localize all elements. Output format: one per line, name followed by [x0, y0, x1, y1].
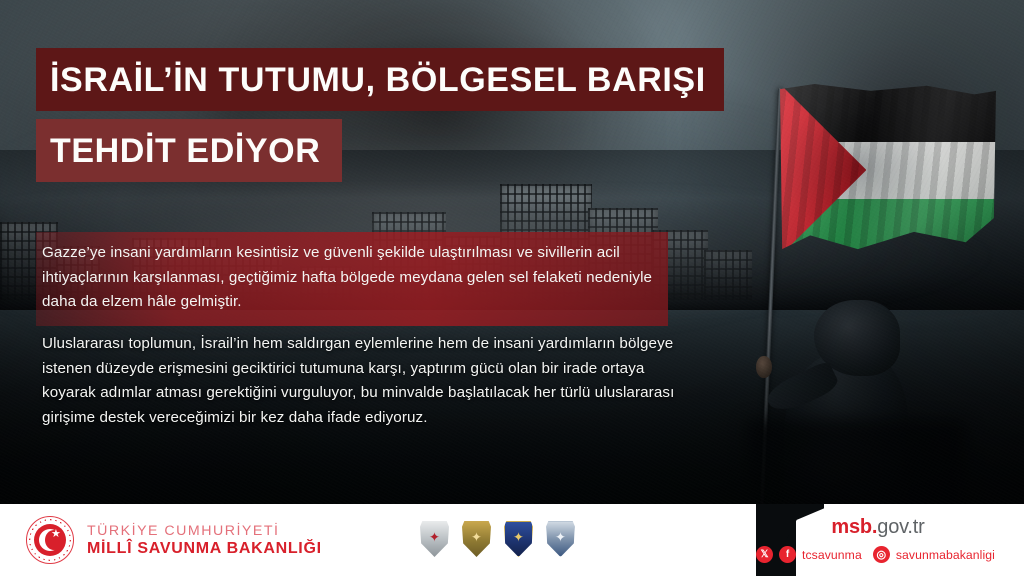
headline-line-1: İSRAİL’İN TUTUMU, BÖLGESEL BARIŞI	[36, 48, 724, 111]
crest-glyph: ✦	[471, 530, 482, 543]
website-url-bold: msb.	[831, 516, 877, 538]
social-links: 𝕏 f tcsavunma ◎ savunmabakanligi	[756, 546, 1000, 563]
headline-line-2: TEHDİT EDİYOR	[36, 119, 342, 182]
headline-row-2: TEHDİT EDİYOR	[0, 111, 1024, 182]
x-icon[interactable]: 𝕏	[756, 546, 773, 563]
paragraph-plain-text: Uluslararası toplumun, İsrail’in hem sal…	[42, 335, 674, 426]
headline-block: İSRAİL’İN TUTUMU, BÖLGESEL BARIŞI TEHDİT…	[0, 48, 1024, 182]
footer-bar: ★ TÜRKİYE CUMHURİYETİ MİLLÎ SAVUNMA BAKA…	[0, 504, 1024, 576]
paragraph-highlighted: Gazze’ye insani yardımların kesintisiz v…	[36, 232, 668, 326]
crest-glyph: ✦	[429, 530, 440, 543]
paragraph-plain: Uluslararası toplumun, İsrail’in hem sal…	[42, 332, 682, 431]
web-contact: msb.gov.tr 𝕏 f tcsavunma ◎ savunmabakanl…	[756, 516, 1000, 563]
crest-glyph: ✦	[513, 530, 524, 543]
facebook-handle[interactable]: tcsavunma	[802, 548, 862, 562]
land-forces-crest: ✦	[462, 521, 491, 557]
facebook-icon[interactable]: f	[779, 546, 796, 563]
air-forces-crest: ✦	[546, 521, 575, 557]
website-url-rest: gov.tr	[877, 516, 924, 538]
general-staff-crest: ✦	[420, 521, 449, 557]
ministry-brand: ★ TÜRKİYE CUMHURİYETİ MİLLÎ SAVUNMA BAKA…	[26, 516, 322, 564]
instagram-handle[interactable]: savunmabakanligi	[896, 548, 995, 562]
turkey-emblem-icon: ★	[26, 516, 74, 564]
paragraph-highlighted-text: Gazze’ye insani yardımların kesintisiz v…	[42, 244, 652, 310]
star-icon: ★	[51, 529, 61, 540]
crest-glyph: ✦	[555, 530, 566, 543]
brand-line-2: MİLLÎ SAVUNMA BAKANLIĞI	[87, 540, 322, 558]
naval-forces-crest: ✦	[504, 521, 533, 557]
military-crests: ✦ ✦ ✦ ✦	[420, 521, 575, 557]
poster-canvas: İSRAİL’İN TUTUMU, BÖLGESEL BARIŞI TEHDİT…	[0, 0, 1024, 576]
instagram-icon[interactable]: ◎	[873, 546, 890, 563]
website-url[interactable]: msb.gov.tr	[756, 516, 1000, 539]
brand-line-1: TÜRKİYE CUMHURİYETİ	[87, 523, 322, 539]
headline-row-1: İSRAİL’İN TUTUMU, BÖLGESEL BARIŞI	[0, 48, 1024, 111]
